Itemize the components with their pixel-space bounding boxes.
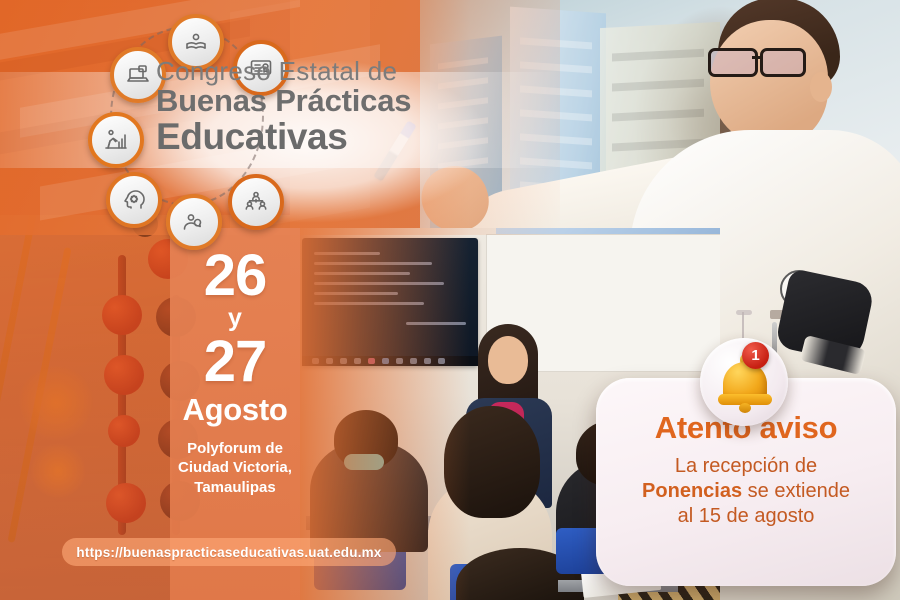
bell-hanger-bar — [736, 310, 752, 315]
team-group-icon — [228, 174, 284, 230]
head-gears-icon — [106, 172, 162, 228]
notice-body-line-2-rest: se extiende — [742, 480, 850, 502]
notice-body-line-2: Ponencias se extiende — [606, 479, 886, 504]
event-month: Agosto — [170, 389, 300, 431]
website-url-text: https://buenaspracticaseducativas.uat.ed… — [76, 545, 381, 560]
congress-promo-poster: UAT — [0, 0, 900, 600]
title-line-3: Educativas — [156, 118, 556, 156]
title-line-2: Buenas Prácticas — [156, 85, 556, 118]
notification-count-badge: 1 — [742, 342, 769, 369]
congress-title: Congreso Estatal de Buenas Prácticas Edu… — [156, 58, 556, 157]
day-second: 27 — [170, 334, 300, 389]
venue-block: Polyforum de Ciudad Victoria, Tamaulipas — [170, 439, 300, 497]
notice-body-line-3: al 15 de agosto — [606, 504, 886, 529]
notice-body-line-1: La recepción de — [606, 454, 886, 479]
notification-bell-badge: 1 — [700, 338, 788, 426]
person-growth-chart-icon — [88, 112, 144, 168]
person-speaking-icon — [166, 194, 222, 250]
venue-line-2: Ciudad Victoria, — [170, 458, 300, 477]
notice-body-emphasis: Ponencias — [642, 480, 742, 502]
notice-body: La recepción de Ponencias se extiende al… — [596, 454, 896, 528]
title-line-1: Congreso Estatal de — [156, 58, 556, 85]
speaker-ear — [810, 72, 832, 102]
event-date-block: 26 y 27 Agosto Polyforum de Ciudad Victo… — [170, 248, 300, 497]
website-url-pill[interactable]: https://buenaspracticaseducativas.uat.ed… — [62, 538, 396, 566]
day-first: 26 — [170, 248, 300, 303]
venue-line-1: Polyforum de — [170, 439, 300, 458]
glasses-icon — [708, 48, 818, 72]
venue-line-3: Tamaulipas — [170, 478, 300, 497]
